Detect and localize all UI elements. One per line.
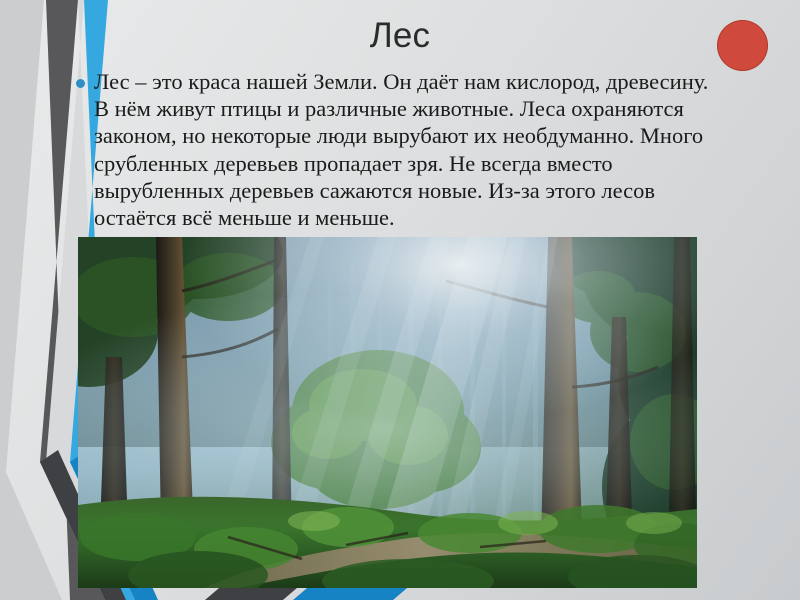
slide-title: Лес bbox=[120, 14, 680, 58]
stripe-light-gray-left bbox=[0, 0, 62, 600]
presentation-slide: Лес Лес – это краса нашей Земли. Он даёт… bbox=[0, 0, 800, 600]
bullet-dot-icon bbox=[76, 79, 85, 88]
forest-photo-illustration bbox=[78, 237, 697, 588]
body-text-block: Лес – это краса нашей Земли. Он даёт нам… bbox=[72, 68, 712, 231]
red-circle-accent bbox=[717, 20, 768, 71]
forest-photo: Солнечные лучи в хвойном лесу, тропинка … bbox=[78, 237, 697, 588]
body-paragraph: Лес – это краса нашей Земли. Он даёт нам… bbox=[72, 68, 712, 231]
